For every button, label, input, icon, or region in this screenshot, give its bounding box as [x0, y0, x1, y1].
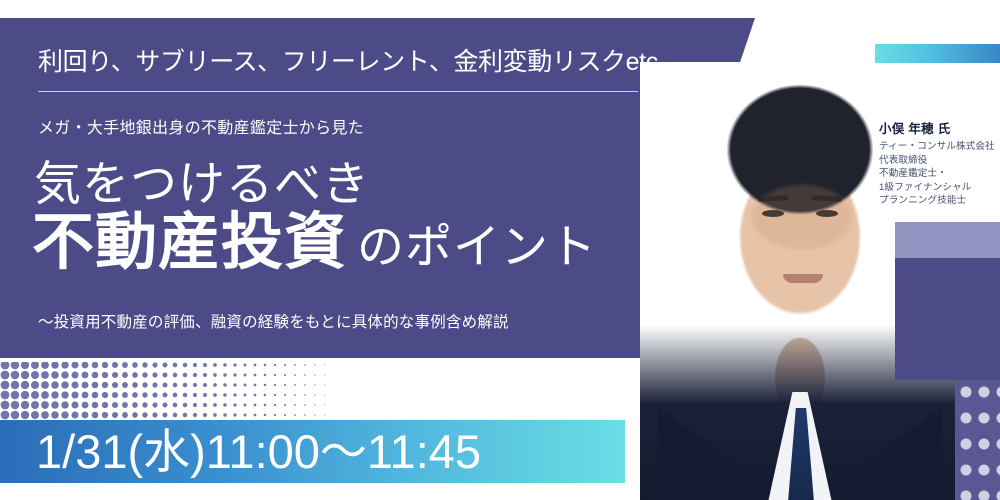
- eye-right: [816, 210, 838, 217]
- title-strong: 不動産投資: [32, 208, 347, 277]
- title-line-two: 不動産投資のポイント: [32, 212, 597, 274]
- mouth: [783, 274, 823, 283]
- dot-pattern-right: [955, 380, 1000, 500]
- speaker-affiliation-line-1: ティー・コンサル株式会社: [879, 140, 1000, 154]
- speaker-name: 小俣 年穂 氏: [879, 118, 1000, 137]
- speaker-affiliation-line-4: 1級ファイナンシャル: [879, 181, 1000, 195]
- subline-text: メガ・大手地銀出身の不動産鑑定士から見た: [38, 114, 364, 138]
- accent-band-dark: [895, 258, 1000, 380]
- webinar-banner: 利回り、サブリース、フリーレント、金利変動リスクetc. メガ・大手地銀出身の不…: [0, 0, 1000, 500]
- accent-gradient-bar: [875, 44, 1000, 63]
- divider-rule: [38, 91, 638, 92]
- speaker-info-block: 小俣 年穂 氏 ティー・コンサル株式会社 代表取締役 不動産鑑定士・ 1級ファイ…: [879, 118, 1000, 208]
- kicker-text: 利回り、サブリース、フリーレント、金利変動リスクetc.: [38, 48, 648, 77]
- date-text: 1/31(水)11:00〜11:45: [36, 423, 481, 481]
- title-light: のポイント: [357, 220, 597, 273]
- accent-band-light: [895, 222, 1000, 258]
- eye-left: [762, 210, 784, 217]
- speaker-affiliation-line-2: 代表取締役: [879, 154, 1000, 168]
- dot-pattern-left: [0, 362, 330, 420]
- tagline-text: 〜投資用不動産の評価、融資の経験をもとに具体的な事例含め解説: [38, 310, 509, 332]
- speaker-affiliation-line-3: 不動産鑑定士・: [879, 167, 1000, 181]
- face-shading: [748, 182, 856, 252]
- title-line-one: 気をつけるべき: [34, 145, 370, 214]
- speaker-affiliation-line-5: プランニング技能士: [879, 194, 1000, 208]
